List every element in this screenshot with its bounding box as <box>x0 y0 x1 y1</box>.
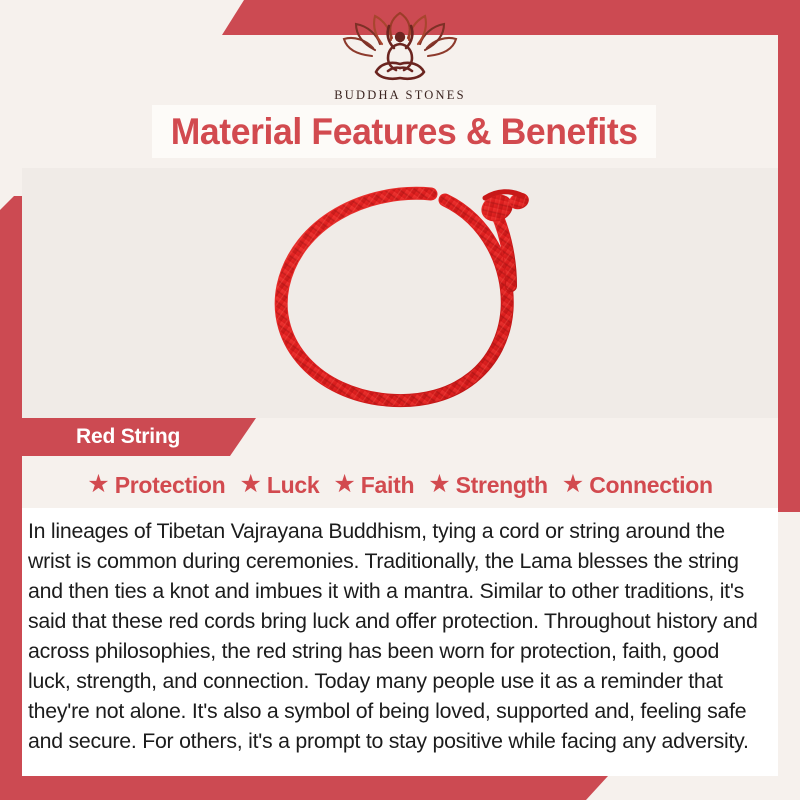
page-header: BUDDHA STONES Material Features & Benefi… <box>0 0 800 168</box>
decor-bottom-bar <box>0 776 608 800</box>
benefit-item: ★ Strength <box>428 472 548 499</box>
benefit-item: ★ Luck <box>239 472 319 499</box>
title-banner: Material Features & Benefits <box>152 105 656 158</box>
page-title: Material Features & Benefits <box>171 111 638 153</box>
brand-name: BUDDHA STONES <box>310 88 490 103</box>
benefit-label: Connection <box>589 472 713 499</box>
star-icon: ★ <box>562 472 584 497</box>
description-block: In lineages of Tibetan Vajrayana Buddhis… <box>22 508 778 776</box>
description-paragraph: In lineages of Tibetan Vajrayana Buddhis… <box>28 516 760 756</box>
star-icon: ★ <box>333 472 355 497</box>
brand-logo: BUDDHA STONES <box>310 12 490 103</box>
star-icon: ★ <box>239 472 261 497</box>
product-image <box>22 168 778 418</box>
star-icon: ★ <box>87 472 109 497</box>
red-braided-cord-bracelet-icon <box>235 168 565 418</box>
star-icon: ★ <box>428 472 450 497</box>
benefit-item: ★ Protection <box>87 472 225 499</box>
benefit-item: ★ Faith <box>333 472 414 499</box>
section-banner: Red String <box>22 418 256 456</box>
benefit-label: Protection <box>115 472 226 499</box>
benefit-item: ★ Connection <box>562 472 713 499</box>
benefit-label: Faith <box>361 472 414 499</box>
lotus-meditation-icon <box>342 12 458 86</box>
benefit-label: Strength <box>456 472 548 499</box>
benefit-label: Luck <box>267 472 319 499</box>
section-banner-label: Red String <box>76 425 180 449</box>
benefits-list: ★ Protection ★ Luck ★ Faith ★ Strength ★… <box>0 462 800 508</box>
infographic-page: BUDDHA STONES Material Features & Benefi… <box>0 0 800 800</box>
